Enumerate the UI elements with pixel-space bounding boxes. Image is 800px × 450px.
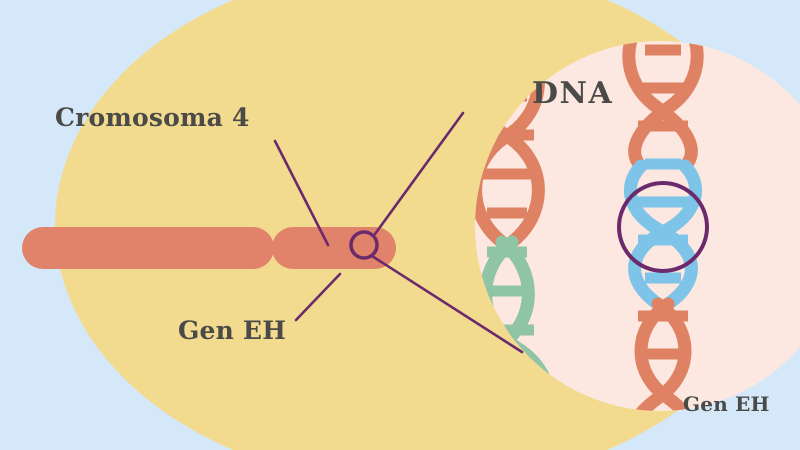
label-dna: DNA [532,76,613,111]
chromosome-gene-diagram [0,0,800,450]
chromosome-arm-long [22,227,274,269]
label-chromosome: Cromosoma 4 [55,103,250,132]
label-gene-pointer: Gen EH [178,316,286,345]
chromosome [22,227,396,269]
diagram-canvas: Cromosoma 4 Gen EH DNA Gen EH [0,0,800,450]
label-gene-caption: Gen EH [683,392,770,416]
